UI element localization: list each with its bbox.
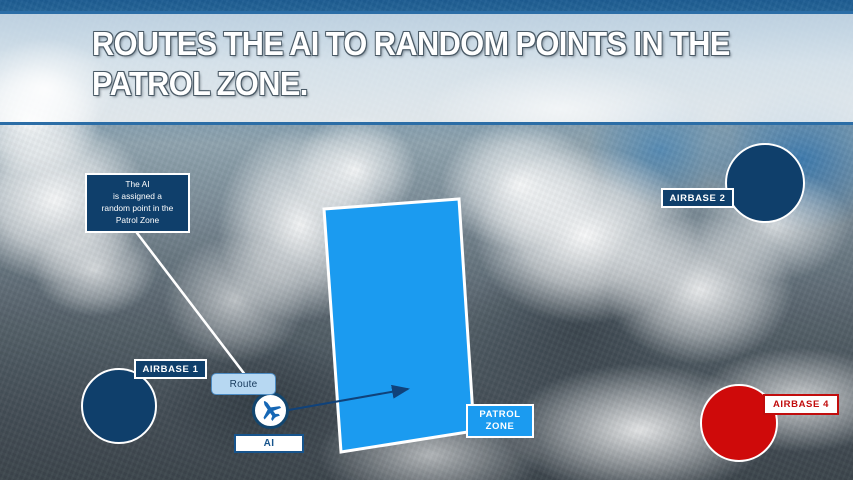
patrol-zone-label[interactable]: PATROL ZONE [466,404,534,438]
ai-label[interactable]: AI [234,434,304,453]
fighter-jet-icon [258,398,284,424]
airbase-1-marker[interactable] [81,368,157,444]
callout-leader-line [137,233,246,376]
callout-box: The AI is assigned a random point in the… [85,173,190,233]
airbase-2-marker[interactable] [725,143,805,223]
airbase-1-label[interactable]: AIRBASE 1 [134,359,207,379]
route-label[interactable]: Route [211,373,276,395]
slide-canvas: ROUTES THE AI TO RANDOM POINTS IN THE PA… [0,0,853,480]
airbase-2-label[interactable]: AIRBASE 2 [661,188,734,208]
ai-jet-marker[interactable] [252,392,289,429]
airbase-4-label[interactable]: AIRBASE 4 [763,394,839,415]
patrol-zone-shape[interactable] [324,199,474,452]
